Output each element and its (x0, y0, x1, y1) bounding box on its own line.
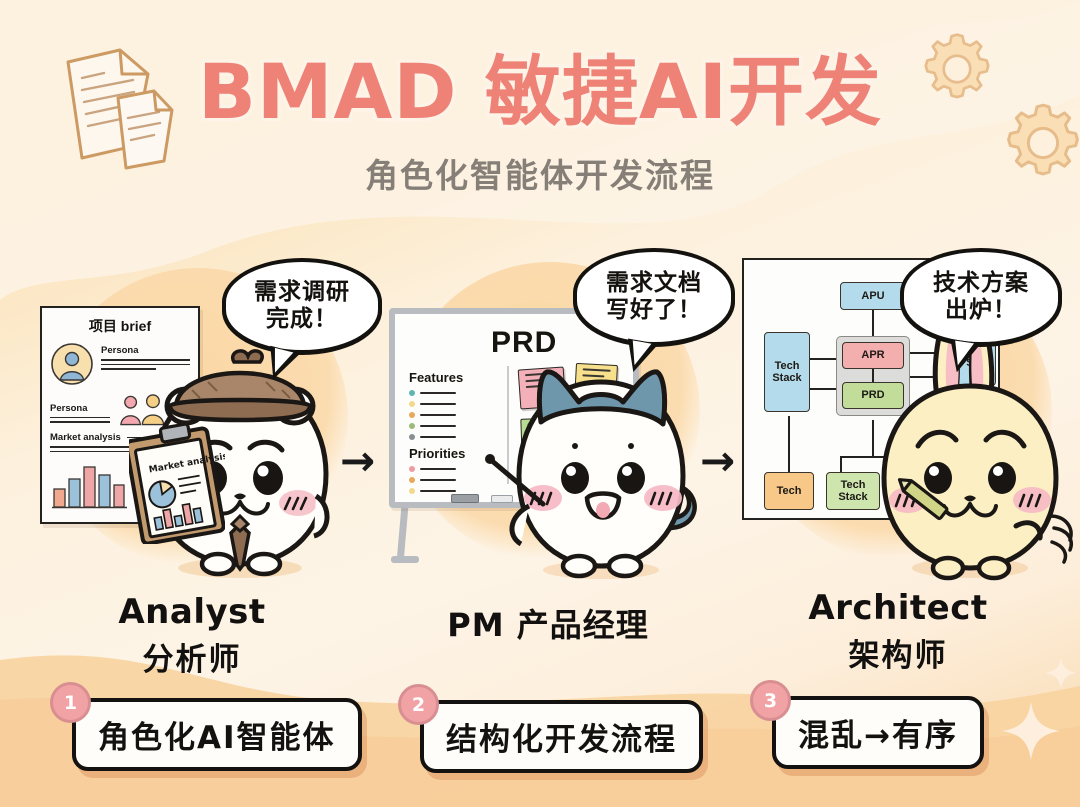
bubble-line-1: 需求文档 (606, 270, 702, 297)
poster-label-market: Market analysis (50, 432, 121, 443)
bubble-line-2: 完成！ (266, 306, 338, 333)
bullet-line (420, 425, 456, 428)
page-subtitle: 角色化智能体开发流程 (0, 149, 1080, 197)
bullet-dot (409, 412, 415, 418)
whiteboard-leg (391, 556, 419, 563)
pill-wrap-2: 2 结构化开发流程 (420, 700, 703, 773)
flow-arrow-1: → (340, 440, 375, 482)
market-analysis-clipboard: Market analysis (129, 422, 225, 544)
role-en-analyst: Analyst (12, 592, 372, 632)
role-label-analyst: Analyst 分析师 (12, 592, 372, 679)
pill-label-3: 混乱→有序 (798, 718, 958, 754)
pill-label-2: 结构化开发流程 (446, 722, 677, 758)
infographic-canvas: BMAD 敏捷AI开发 角色化智能体开发流程 → → 项目 brief Pers… (0, 0, 1080, 807)
pointer-stick-icon (481, 452, 551, 512)
pill-badge-3: 3 (750, 680, 791, 721)
speech-bubble-architect: 技术方案 出炉！ (900, 248, 1062, 346)
speech-bubble-analyst: 需求调研 完成！ (222, 258, 382, 354)
bullet-line (420, 392, 456, 395)
role-label-architect: Architect 架构师 (718, 588, 1078, 675)
whiteboard-section-label-features: Features (409, 370, 501, 385)
bullet-line (420, 468, 456, 471)
header: BMAD 敏捷AI开发 角色化智能体开发流程 (0, 52, 1080, 197)
page-title: BMAD 敏捷AI开发 (0, 52, 1080, 133)
bubble-line-1: 技术方案 (933, 270, 1029, 297)
connector (808, 388, 838, 390)
bullet-dot (409, 466, 415, 472)
bullet-line (420, 414, 456, 417)
bullet-line (420, 403, 456, 406)
poster-label-persona-left: Persona (50, 403, 110, 414)
flow-arrow-2: → (700, 440, 735, 482)
bubble-line-2: 写好了！ (606, 297, 702, 324)
connector (788, 416, 790, 472)
role-inline-pm: PM 产品经理 (368, 600, 728, 646)
arch-box-label: APU (861, 290, 884, 302)
feature-pill-1[interactable]: 1 角色化AI智能体 (72, 698, 362, 771)
pill-badge-2: 2 (398, 684, 439, 725)
pill-wrap-1: 1 角色化AI智能体 (72, 698, 362, 771)
pill-badge-1: 1 (50, 682, 91, 723)
pill-label-1: 角色化AI智能体 (98, 720, 336, 756)
bullet-dot (409, 434, 415, 440)
bullet-dot (409, 401, 415, 407)
bullet-dot (409, 390, 415, 396)
arch-box-label: Tech Stack (838, 479, 867, 504)
sparkle-icon (1000, 700, 1062, 762)
bullet-line (420, 490, 456, 493)
speech-bubble-pm: 需求文档 写好了！ (573, 248, 735, 346)
feature-pill-2[interactable]: 2 结构化开发流程 (420, 700, 703, 773)
panel-architect: APU APR PRD Tech Stack Sc Tech Tech Stac… (730, 250, 1070, 580)
bubble-line-1: 需求调研 (254, 279, 350, 306)
avatar-icon (50, 342, 94, 386)
role-cn-analyst: 分析师 (12, 634, 372, 679)
arch-box-label: Tech (777, 485, 802, 497)
connector (808, 358, 838, 360)
bullet-dot (409, 423, 415, 429)
role-label-pm: PM 产品经理 (368, 600, 728, 646)
arch-box-apu: APU (840, 282, 906, 310)
bullet-line (420, 479, 456, 482)
bar-chart-icon (50, 459, 128, 509)
role-cn-architect: 架构师 (718, 630, 1078, 675)
bubble-line-2: 出炉！ (945, 297, 1017, 324)
arch-box-tech: Tech (764, 472, 814, 510)
bullet-dot (409, 477, 415, 483)
arch-box-tech-stack-left: Tech Stack (764, 332, 810, 412)
pencil-icon (890, 468, 962, 534)
bullet-line (420, 436, 456, 439)
pill-wrap-3: 3 混乱→有序 (772, 696, 984, 769)
panel-analyst: 项目 brief Persona Persona (22, 250, 362, 580)
panel-pm: PRD Features Priorities (375, 250, 715, 580)
arch-box-label: Tech Stack (772, 360, 801, 385)
role-en-architect: Architect (718, 588, 1078, 628)
feature-pill-3[interactable]: 3 混乱→有序 (772, 696, 984, 769)
whiteboard-leg (397, 506, 409, 562)
bullet-dot (409, 488, 415, 494)
